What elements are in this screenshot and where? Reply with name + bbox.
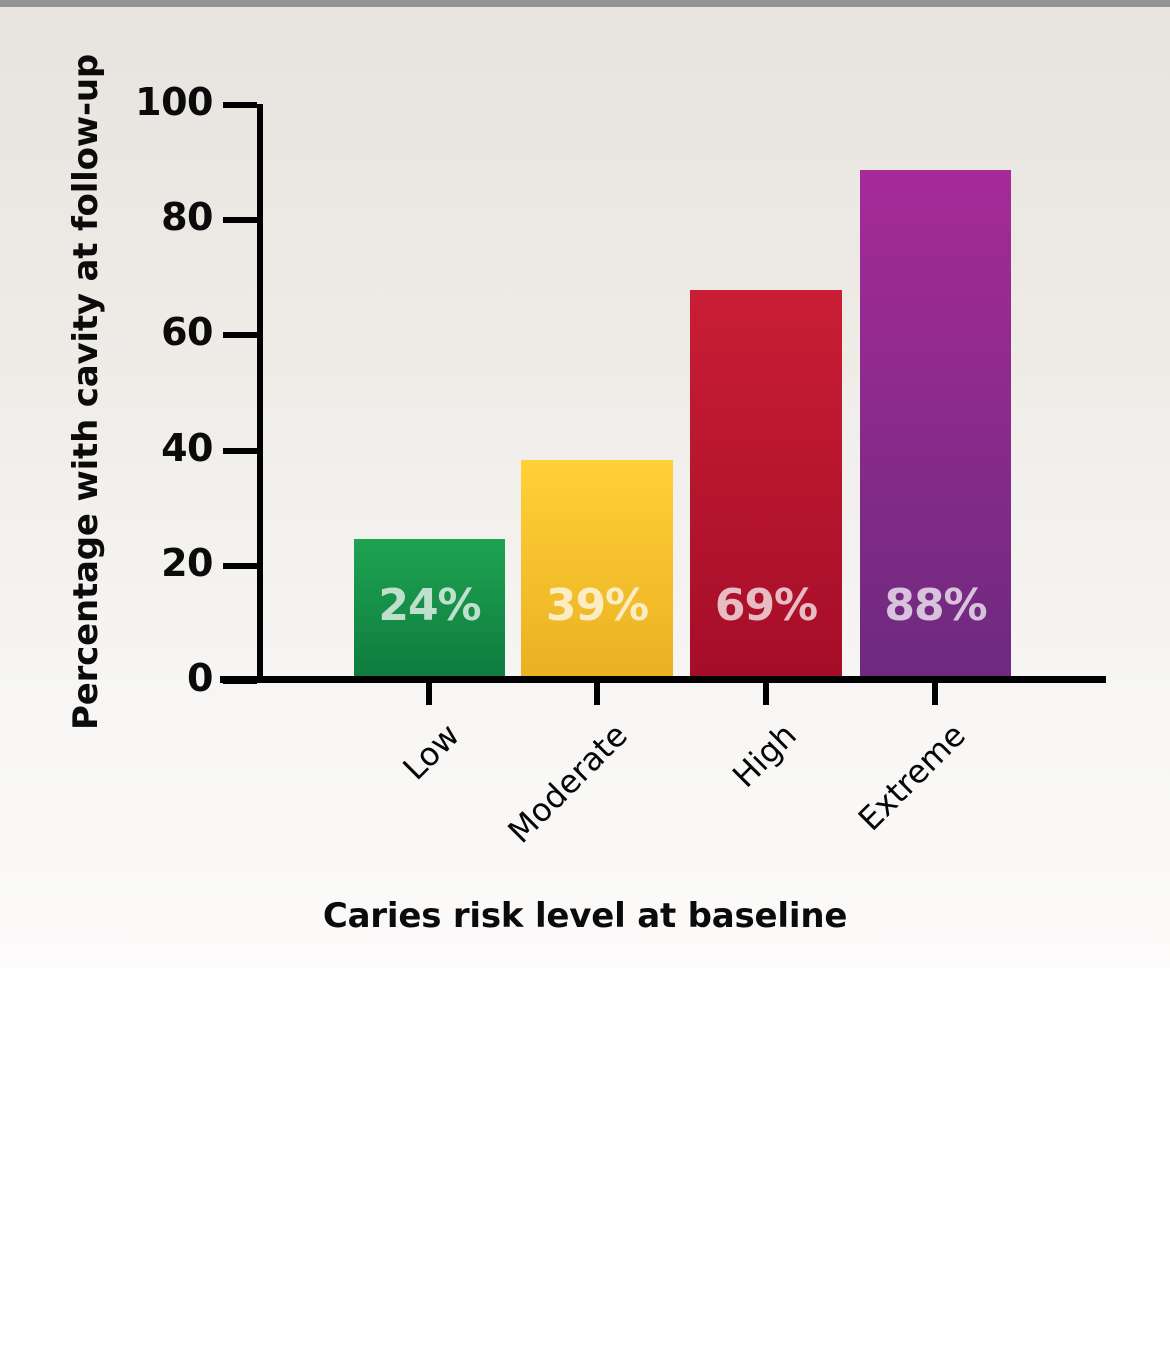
bar-extreme[interactable]: 88%: [860, 170, 1011, 681]
y-tick-mark: [223, 563, 257, 569]
y-tick-group-40: 40: [0, 448, 257, 454]
y-tick-mark: [223, 102, 257, 108]
x-tick-mark-low: [426, 683, 432, 705]
bar-moderate[interactable]: 39%: [521, 460, 673, 681]
x-axis-line: [220, 676, 1106, 683]
x-tick-mark-high: [763, 683, 769, 705]
x-category-label-moderate: Moderate: [0, 716, 635, 1351]
bar-value-label: 39%: [521, 583, 673, 629]
y-tick-label: 20: [161, 541, 213, 585]
bar-low[interactable]: 24%: [354, 539, 505, 681]
x-tick-mark-extreme: [932, 683, 938, 705]
x-axis-title: Caries risk level at baseline: [0, 896, 1170, 936]
y-tick-label: 60: [161, 310, 213, 354]
x-category-label-high: High: [169, 716, 804, 1351]
y-tick-mark: [223, 332, 257, 338]
y-tick-mark: [223, 448, 257, 454]
x-tick-mark-moderate: [594, 683, 600, 705]
x-category-label-extreme: Extreme: [338, 716, 973, 1351]
y-tick-group-100: 100: [0, 102, 257, 108]
y-axis-title: Percentage with cavity at follow-up: [66, 70, 106, 730]
bar-value-label: 88%: [860, 583, 1011, 629]
y-tick-mark: [223, 217, 257, 223]
bar-value-label: 69%: [690, 583, 842, 629]
bar-value-label: 24%: [354, 583, 505, 629]
y-axis-spine: [257, 104, 263, 682]
y-tick-label: 0: [187, 656, 213, 700]
y-tick-group-60: 60: [0, 332, 257, 338]
plot-area: Percentage with cavity at follow-up 0 20…: [0, 0, 1170, 968]
y-tick-group-20: 20: [0, 563, 257, 569]
y-tick-label: 40: [161, 426, 213, 470]
y-tick-group-0: 0: [0, 678, 257, 684]
y-tick-label: 80: [161, 195, 213, 239]
y-tick-label: 100: [135, 80, 213, 124]
bar-high[interactable]: 69%: [690, 290, 842, 681]
bar-chart: Percentage with cavity at follow-up 0 20…: [0, 0, 1170, 968]
y-tick-group-80: 80: [0, 217, 257, 223]
